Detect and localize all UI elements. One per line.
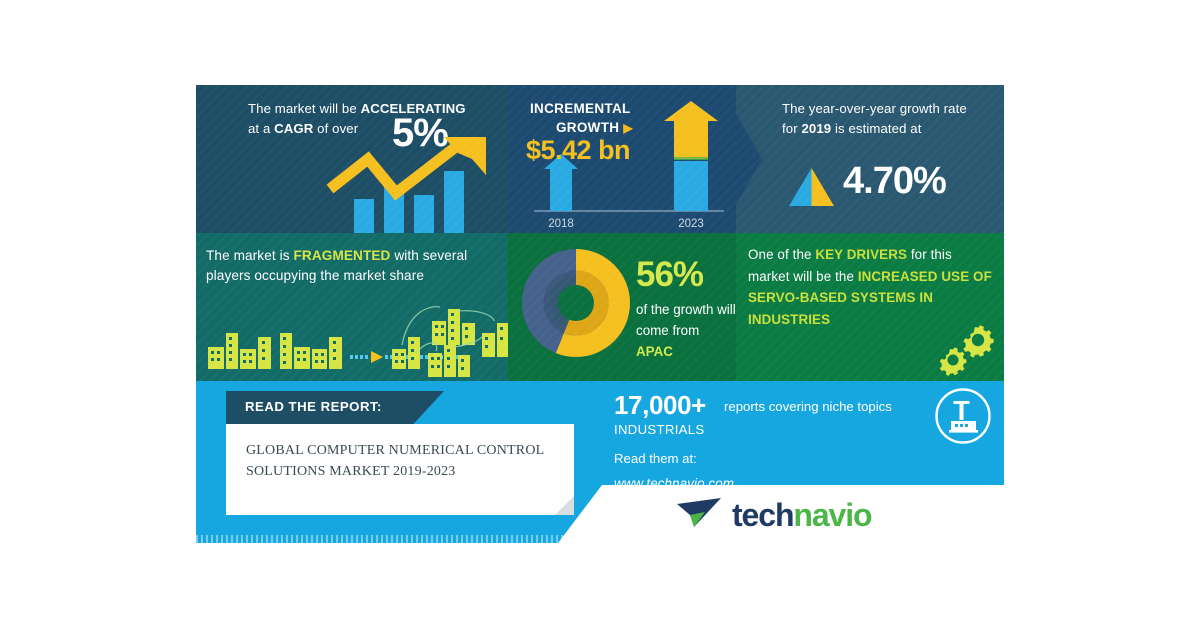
read-the-report-label: READ THE REPORT: [245, 399, 382, 414]
incremental-growth-label: INCREMENTAL GROWTH ▶ [530, 99, 680, 138]
cagr-text-1: The market will be [248, 101, 361, 116]
donut-caption-1: of the growth will [636, 302, 736, 317]
technavio-wordmark: technavio [732, 497, 872, 534]
sector-label: INDUSTRIALS [614, 422, 705, 437]
factory-icon [934, 387, 992, 445]
cagr-description: The market will be ACCELERATING at a CAG… [248, 99, 498, 139]
fragmented-description: The market is FRAGMENTED with several pl… [206, 246, 506, 286]
frag-text-2: with several [390, 248, 467, 263]
buildings-network-icon [196, 291, 508, 381]
page-fold-corner [555, 496, 574, 515]
incremental-growth-value: $5.42 bn [526, 135, 630, 166]
play-arrow-icon: ▶ [623, 121, 633, 135]
donut-caption-2: come from [636, 323, 699, 338]
panel-footer: READ THE REPORT: GLOBAL COMPUTER NUMERIC… [196, 381, 1004, 543]
yoy-description: The year-over-year growth rate for 2019 … [782, 99, 997, 139]
driver-text-3: market will be the [748, 269, 858, 284]
technavio-arrow-icon [674, 493, 726, 533]
panel-notch [736, 113, 762, 205]
upward-trend-bar-chart-icon [326, 137, 508, 233]
triangle-growth-icon [789, 168, 834, 206]
incr-label-line2: GROWTH [556, 120, 619, 135]
yoy-text-1: The year-over-year growth rate [782, 101, 967, 116]
axis-label-2018: 2018 [548, 218, 574, 230]
cagr-text-3: of over [313, 121, 358, 136]
reports-count: 17,000+ [614, 390, 706, 421]
panel-incremental-growth: 2018 2023 INCREMENTAL GROWTH ▶ $5.42 bn [508, 85, 736, 233]
infographic-canvas: The market will be ACCELERATING at a CAG… [196, 85, 1004, 543]
cagr-text-cagr: CAGR [274, 121, 313, 136]
driver-text-2: for this [907, 247, 952, 262]
read-the-report-banner: READ THE REPORT: [226, 391, 444, 424]
logo-text-tech: tech [732, 497, 793, 533]
driver-text-key-drivers: KEY DRIVERS [815, 247, 907, 262]
apac-share-donut-chart [522, 249, 630, 357]
report-card[interactable]: GLOBAL COMPUTER NUMERICAL CONTROL SOLUTI… [226, 424, 574, 515]
yoy-value: 4.70% [843, 160, 946, 203]
donut-caption-apac: APAC [636, 344, 673, 359]
axis-label-2023: 2023 [678, 218, 704, 230]
panel-apac-share: 56% of the growth will come from APAC [508, 233, 736, 381]
donut-caption: of the growth will come from APAC [636, 299, 736, 362]
gears-icon [934, 325, 996, 377]
panel-fragmented-market: The market is FRAGMENTED with several pl… [196, 233, 508, 381]
reports-count-caption: reports covering niche topics [724, 399, 892, 414]
logo-text-navio: navio [793, 497, 871, 533]
cagr-text-2: at a [248, 121, 274, 136]
footer-dotted-divider [196, 535, 1004, 543]
read-them-at-label: Read them at: [614, 451, 697, 466]
key-drivers-description: One of the KEY DRIVERS for this market w… [748, 244, 1000, 330]
yoy-text-2: for [782, 121, 801, 136]
technavio-logo: technavio [674, 493, 924, 537]
panel-key-drivers: One of the KEY DRIVERS for this market w… [736, 233, 1004, 381]
driver-text-1: One of the [748, 247, 815, 262]
incr-label-line1: INCREMENTAL [530, 101, 631, 116]
frag-text-3: players occupying the market share [206, 268, 424, 283]
panel-yoy-growth: The year-over-year growth rate for 2019 … [736, 85, 1004, 233]
donut-percentage: 56% [636, 255, 703, 295]
frag-text-1: The market is [206, 248, 294, 263]
panel-cagr: The market will be ACCELERATING at a CAG… [196, 85, 508, 233]
yoy-text-year: 2019 [801, 121, 831, 136]
frag-text-fragmented: FRAGMENTED [294, 248, 391, 263]
yoy-text-3: is estimated at [831, 121, 921, 136]
report-title: GLOBAL COMPUTER NUMERICAL CONTROL SOLUTI… [246, 440, 556, 482]
